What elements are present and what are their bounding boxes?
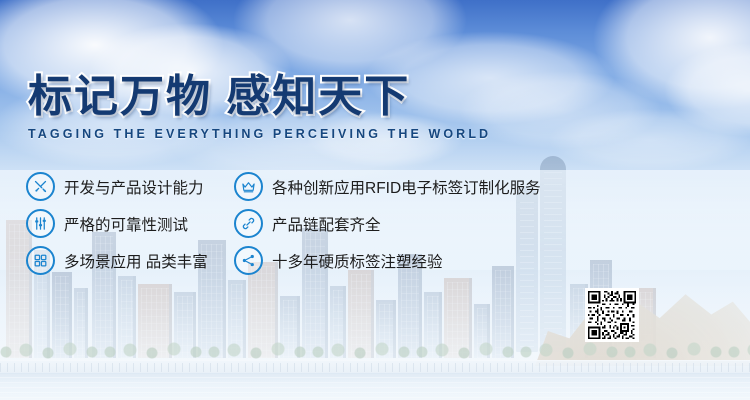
cloud-shape (560, 0, 750, 130)
feature-label: 严格的可靠性测试 (64, 213, 188, 235)
headline-block: 标记万物 感知天下 TAGGING THE EVERYTHING PERCEIV… (28, 74, 491, 141)
tools-icon (26, 172, 55, 201)
qr-code[interactable] (585, 288, 639, 342)
feature-item-molding-experience: 十多年硬质标签注塑经验 (234, 242, 726, 279)
feature-item-multi-scenario: 多场景应用 品类丰富 (26, 242, 234, 279)
grid-icon (26, 246, 55, 275)
link-icon (234, 209, 263, 238)
feature-label: 开发与产品设计能力 (64, 176, 204, 198)
feature-item-rfid-service: 各种创新应用RFID电子标签订制化服务 (234, 168, 726, 205)
page-subtitle: TAGGING THE EVERYTHING PERCEIVING THE WO… (28, 127, 491, 141)
qr-code-graphic (586, 289, 638, 341)
feature-label: 多场景应用 品类丰富 (64, 250, 208, 272)
feature-item-reliability-testing: 严格的可靠性测试 (26, 205, 234, 242)
feature-label: 产品链配套齐全 (272, 213, 381, 235)
feature-list: 开发与产品设计能力 各种创新应用RFID电子标签订制化服务 严格的可靠性 (26, 168, 726, 279)
sliders-icon (26, 209, 55, 238)
feature-item-development: 开发与产品设计能力 (26, 168, 234, 205)
feature-label: 十多年硬质标签注塑经验 (272, 250, 443, 272)
feature-label: 各种创新应用RFID电子标签订制化服务 (272, 176, 541, 198)
water (0, 372, 750, 400)
feature-item-product-chain: 产品链配套齐全 (234, 205, 726, 242)
share-icon (234, 246, 263, 275)
page-title: 标记万物 感知天下 (28, 74, 491, 121)
crown-icon (234, 172, 263, 201)
promotional-banner: 标记万物 感知天下 TAGGING THE EVERYTHING PERCEIV… (0, 0, 750, 400)
